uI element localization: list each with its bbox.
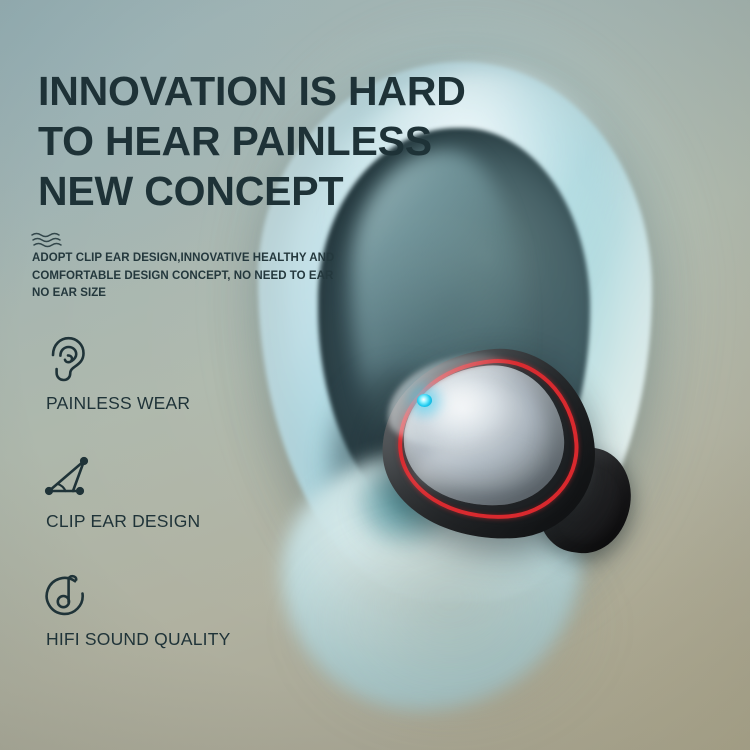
angle-triangle-icon bbox=[44, 453, 90, 501]
feature-label-clip-ear-design: CLIP EAR DESIGN bbox=[46, 511, 200, 532]
feature-item-hifi-sound-quality: HIFI SOUND QUALITY bbox=[44, 571, 324, 689]
subcopy-line-2: COMFORTABLE DESIGN CONCEPT, NO NEED TO E… bbox=[32, 268, 332, 286]
subcopy-line-1: ADOPT CLIP EAR DESIGN,INNOVATIVE HEALTHY… bbox=[32, 250, 332, 268]
ear-outline-icon bbox=[44, 335, 90, 383]
feature-item-painless-wear: PAINLESS WEAR bbox=[44, 335, 324, 453]
wavy-lines-icon bbox=[31, 231, 65, 248]
music-note-circle-icon bbox=[44, 571, 90, 619]
subcopy-text: ADOPT CLIP EAR DESIGN,INNOVATIVE HEALTHY… bbox=[32, 250, 332, 303]
feature-label-painless-wear: PAINLESS WEAR bbox=[46, 393, 190, 414]
feature-label-hifi-sound-quality: HIFI SOUND QUALITY bbox=[46, 629, 230, 650]
feature-item-clip-ear-design: CLIP EAR DESIGN bbox=[44, 453, 324, 571]
headline-line-3: NEW CONCEPT bbox=[38, 166, 508, 216]
page-title: INNOVATION IS HARD TO HEAR PAINLESS NEW … bbox=[38, 66, 508, 216]
headline-line-2: TO HEAR PAINLESS bbox=[38, 116, 508, 166]
feature-list: PAINLESS WEAR CLIP EAR DESIGN bbox=[44, 335, 324, 689]
product-poster: INNOVATION IS HARD TO HEAR PAINLESS NEW … bbox=[0, 0, 750, 750]
subcopy-line-3: NO EAR SIZE bbox=[32, 285, 332, 303]
headline-line-1: INNOVATION IS HARD bbox=[38, 66, 508, 116]
